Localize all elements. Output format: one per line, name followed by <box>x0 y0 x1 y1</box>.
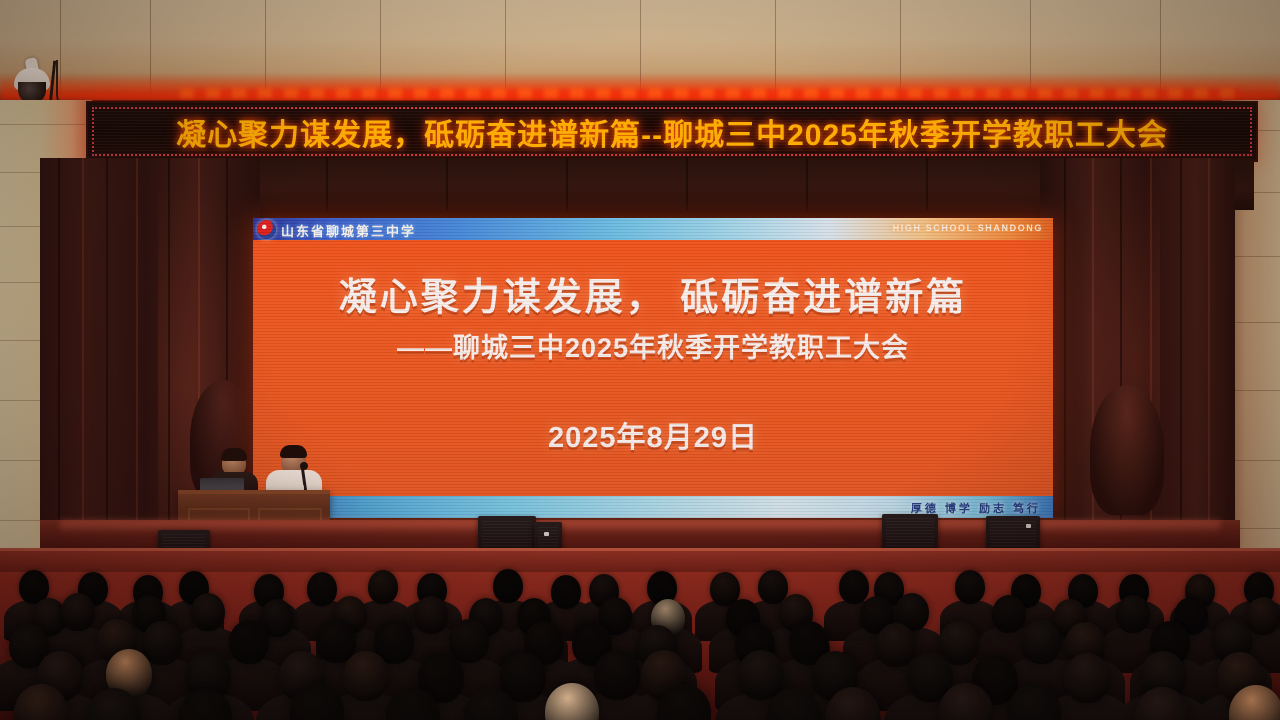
audience-member <box>61 593 95 631</box>
audience-member <box>839 570 869 604</box>
led-banner-text: 凝心聚力谋发展，砥砺奋进谱新篇--聊城三中2025年秋季开学教职工大会 <box>88 103 1256 160</box>
screen-header-band: 山东省聊城第三中学 HIGH SCHOOL SHANDONG <box>253 218 1053 240</box>
screen-date: 2025年8月29日 <box>253 414 1053 456</box>
audience-member <box>551 575 581 609</box>
audience-member <box>191 593 225 631</box>
audience-member <box>992 595 1026 633</box>
audience-member <box>493 569 523 603</box>
audience-seating <box>0 560 1280 720</box>
led-scrolling-banner: 凝心聚力谋发展，砥砺奋进谱新篇--聊城三中2025年秋季开学教职工大会 <box>86 101 1258 162</box>
presentation-led-screen: 山东省聊城第三中学 HIGH SCHOOL SHANDONG 凝心聚力谋发展， … <box>253 218 1053 518</box>
audience-member <box>449 619 489 663</box>
audience-member <box>1116 595 1150 633</box>
school-name-cn: 山东省聊城第三中学 <box>281 221 416 240</box>
curtain-tieback-right <box>1090 385 1164 515</box>
screen-main-title: 凝心聚力谋发展， 砥砺奋进谱新篇 <box>253 266 1053 321</box>
audience-member <box>955 570 985 604</box>
school-name-en: HIGH SCHOOL SHANDONG <box>893 223 1043 233</box>
ceiling <box>0 0 1280 100</box>
audience-member <box>876 623 916 667</box>
stage-monitor-speaker <box>986 516 1040 550</box>
screen-subtitle: ——聊城三中2025年秋季开学教职工大会 <box>253 326 1053 365</box>
audience-member <box>1064 653 1110 703</box>
audience-member <box>343 651 389 701</box>
stage-monitor-speaker <box>478 516 536 550</box>
audience-member <box>368 570 398 604</box>
microphone-head <box>300 462 308 470</box>
audience-member <box>307 572 337 606</box>
stage-monitor-speaker <box>882 514 938 550</box>
auditorium-photo: 凝心聚力谋发展，砥砺奋进谱新篇--聊城三中2025年秋季开学教职工大会 <box>0 0 1280 720</box>
audience-member <box>414 596 448 634</box>
audience-member <box>738 650 784 700</box>
audience-member <box>594 650 640 700</box>
audience-member <box>1021 620 1061 664</box>
audience-member <box>1246 597 1280 635</box>
audience-member <box>229 620 269 664</box>
audience-member <box>142 621 182 665</box>
stage-monitor-speaker <box>534 522 562 550</box>
school-emblem-icon <box>257 220 276 239</box>
